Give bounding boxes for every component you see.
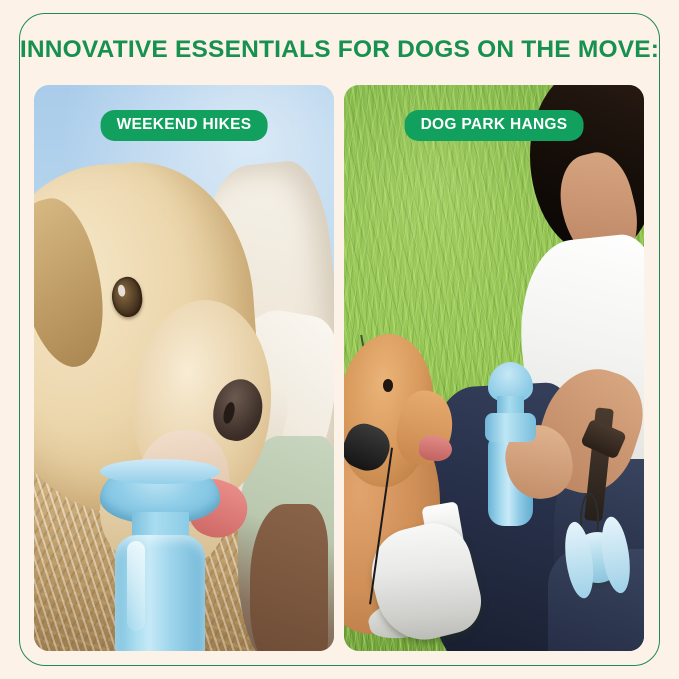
park-water-bottle-collar <box>485 413 536 441</box>
water-bottle-bowl-rim <box>100 459 220 484</box>
photo-card-dog-park-hangs[interactable]: DOG PARK HANGS <box>344 85 644 651</box>
photo-card-list: WEEKEND HIKES <box>34 85 645 651</box>
bone-shaped-waste-bag-dispenser <box>569 529 627 587</box>
badge-dog-park-hangs: DOG PARK HANGS <box>405 110 584 141</box>
water-bottle-highlight <box>127 541 145 632</box>
product-infographic-page: INNOVATIVE ESSENTIALS FOR DOGS ON THE MO… <box>0 0 679 679</box>
photo-dog-park-hangs <box>344 85 644 651</box>
photo-card-weekend-hikes[interactable]: WEEKEND HIKES <box>34 85 334 651</box>
badge-weekend-hikes: WEEKEND HIKES <box>101 110 268 141</box>
photo-weekend-hikes <box>34 85 334 651</box>
person-knee <box>250 504 328 651</box>
page-title: INNOVATIVE ESSENTIALS FOR DOGS ON THE MO… <box>0 36 679 64</box>
poodle-eye <box>383 379 393 391</box>
